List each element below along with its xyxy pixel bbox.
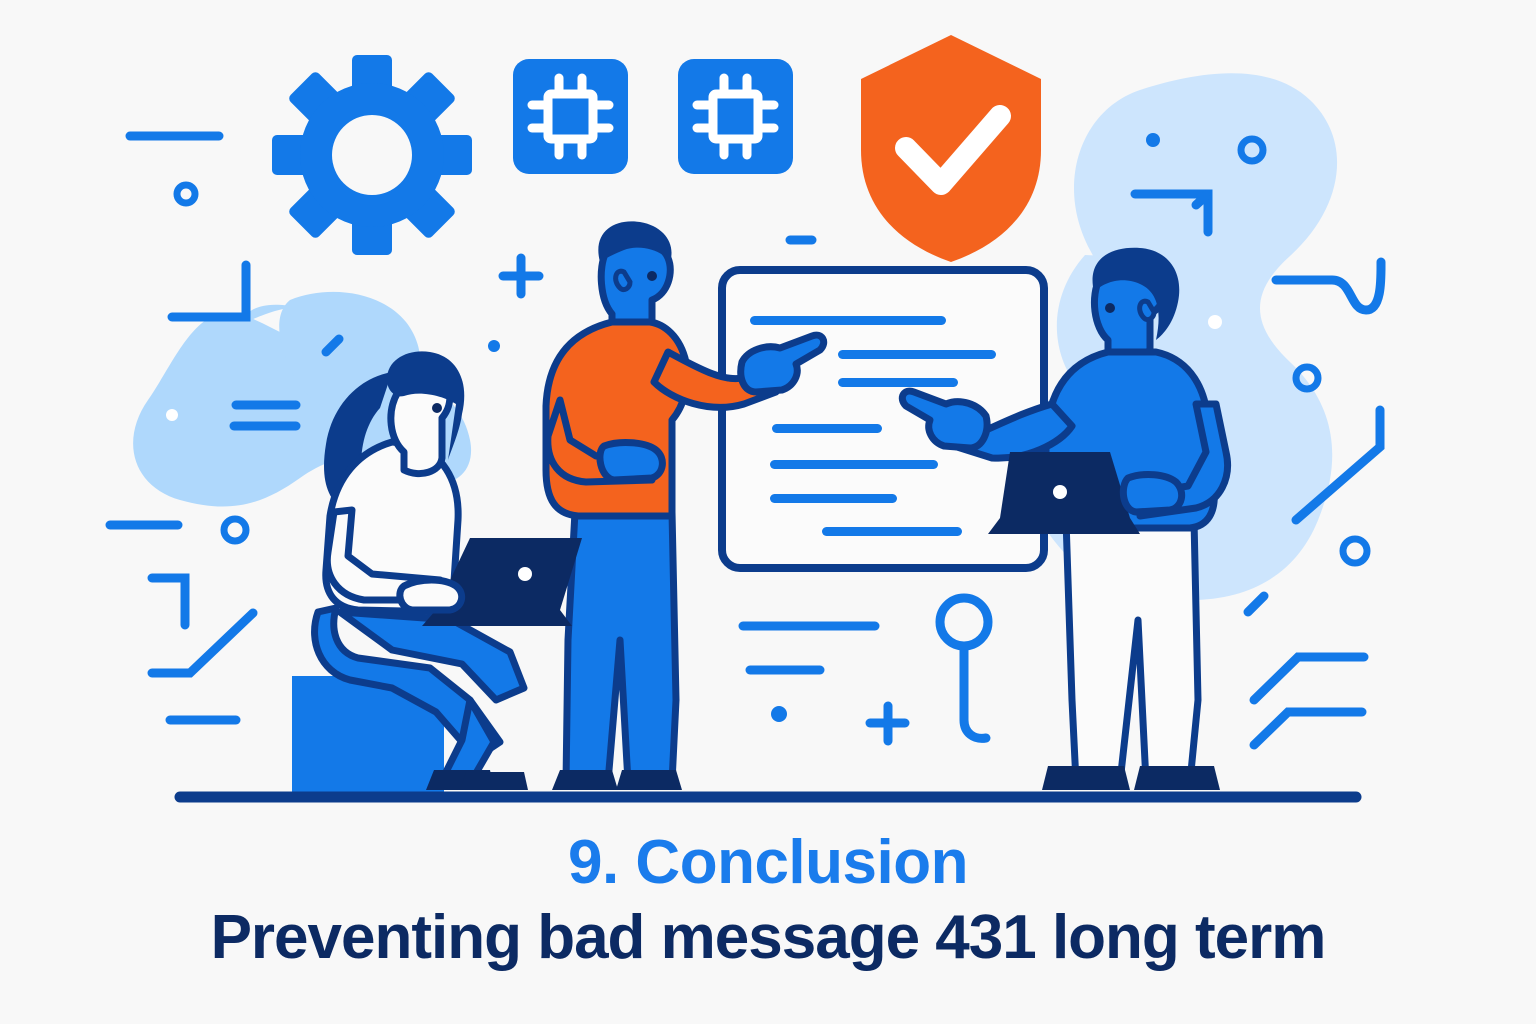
chip-icon-1 [513, 59, 628, 174]
dot-white-right [1208, 315, 1222, 329]
gear-icon [272, 55, 472, 255]
chip-icon-2 [678, 59, 793, 174]
scene-illustration [0, 0, 1536, 1024]
document-board [722, 270, 1044, 568]
dot-white-left [166, 409, 178, 421]
dot-left-small [488, 340, 500, 352]
dot-filled-right [1146, 133, 1160, 147]
dot-center [771, 706, 787, 722]
illustration-page: 9. Conclusion Preventing bad message 431… [0, 0, 1536, 1024]
